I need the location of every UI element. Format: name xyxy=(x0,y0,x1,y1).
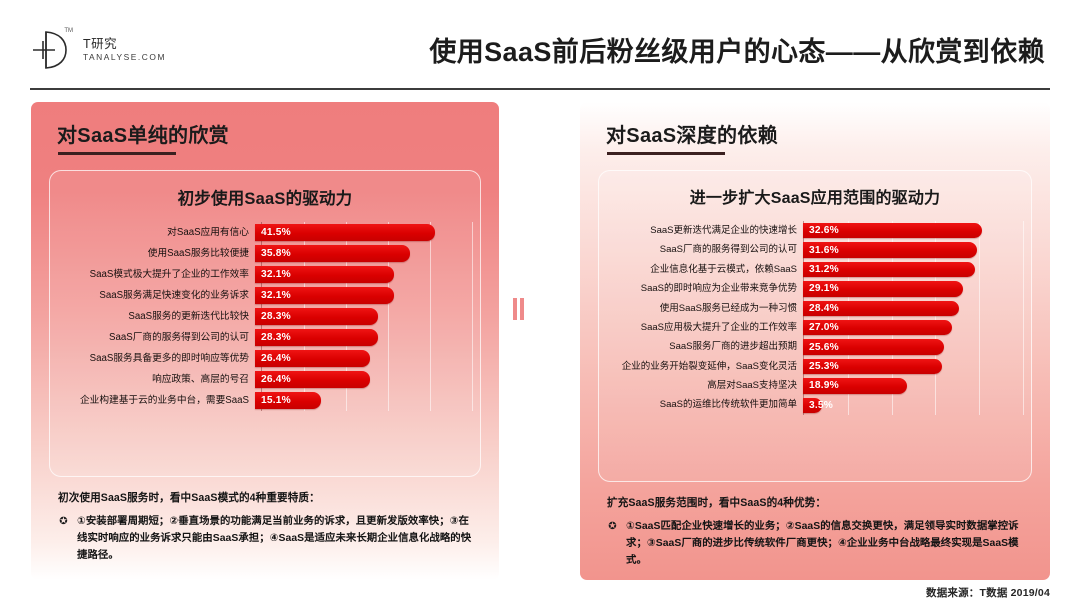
chart-bar-row: 企业构建基于云的业务中台，需要SaaS15.1% xyxy=(50,390,472,411)
panel-dependency: 对SaaS深度的依赖 进一步扩大SaaS应用范围的驱动力 SaaS更新迭代满足企… xyxy=(580,102,1050,580)
bar-value-label: 32.1% xyxy=(255,290,291,301)
note-left: 初次使用SaaS服务时，看中SaaS模式的4种重要特质： ✪ ①安装部署周期短；… xyxy=(58,490,478,565)
bar-track: 41.5% xyxy=(255,222,472,243)
bar: 41.5% xyxy=(255,224,435,241)
bar-value-label: 28.3% xyxy=(255,311,291,322)
bar: 31.6% xyxy=(803,242,977,257)
bar: 35.8% xyxy=(255,245,410,262)
bar-track: 28.3% xyxy=(255,327,472,348)
chart-bar-row: SaaS服务满足快速变化的业务诉求32.1% xyxy=(50,285,472,306)
bar-value-label: 28.4% xyxy=(803,303,839,314)
bar-value-label: 32.1% xyxy=(255,269,291,280)
chart-left-plot: 对SaaS应用有信心41.5%使用SaaS服务比较便捷35.8%SaaS模式极大… xyxy=(50,222,480,411)
header-divider xyxy=(30,88,1050,90)
bar-value-label: 41.5% xyxy=(255,227,291,238)
bar-category-label: 对SaaS应用有信心 xyxy=(50,228,255,238)
bar-track: 29.1% xyxy=(803,279,1023,298)
bar-category-label: SaaS厂商的服务得到公司的认可 xyxy=(50,333,255,343)
bar-value-label: 3.5% xyxy=(803,400,833,411)
page-title: 使用SaaS前后粉丝级用户的心态——从欣赏到依赖 xyxy=(0,30,1045,69)
bar-category-label: SaaS应用极大提升了企业的工作效率 xyxy=(605,323,803,333)
bar-track: 35.8% xyxy=(255,243,472,264)
bar-track: 26.4% xyxy=(255,348,472,369)
bar: 32.6% xyxy=(803,223,982,238)
panel-appreciation: 对SaaS单纯的欣赏 初步使用SaaS的驱动力 对SaaS应用有信心41.5%使… xyxy=(31,102,499,580)
chart-bar-row: 企业信息化基于云模式，依赖SaaS31.2% xyxy=(605,260,1023,279)
note-left-text: ①安装部署周期短；②垂直场景的功能满足当前业务的诉求，且更新发版效率快；③在线实… xyxy=(77,514,478,565)
bar-track: 25.3% xyxy=(803,357,1023,376)
bullet-icon: ✪ xyxy=(607,519,618,570)
panel-right-title: 对SaaS深度的依赖 xyxy=(606,119,778,148)
panel-right-underline xyxy=(607,152,725,155)
chart-bar-row: SaaS应用极大提升了企业的工作效率27.0% xyxy=(605,318,1023,337)
bar-category-label: SaaS服务满足快速变化的业务诉求 xyxy=(50,291,255,301)
bar: 28.4% xyxy=(803,301,959,316)
chart-bar-row: SaaS厂商的服务得到公司的认可31.6% xyxy=(605,240,1023,259)
arrow-bar-2 xyxy=(520,298,524,320)
chart-bar-row: SaaS服务厂商的进步超出预期25.6% xyxy=(605,337,1023,356)
bar: 28.3% xyxy=(255,329,378,346)
bar-category-label: 企业的业务开始裂变延伸，SaaS变化灵活 xyxy=(605,362,803,372)
bar-track: 26.4% xyxy=(255,369,472,390)
bar: 25.3% xyxy=(803,359,942,374)
bar-value-label: 18.9% xyxy=(803,380,839,391)
chart-bar-row: SaaS厂商的服务得到公司的认可28.3% xyxy=(50,327,472,348)
bullet-icon: ✪ xyxy=(58,514,69,565)
note-right: 扩充SaaS服务范围时，看中SaaS的4种优势： ✪ ①SaaS匹配企业快速增长… xyxy=(607,495,1031,570)
bar-track: 31.2% xyxy=(803,260,1023,279)
data-source-note: 数据来源：T数据 2019/04 xyxy=(926,585,1050,600)
bar-value-label: 26.4% xyxy=(255,353,291,364)
chart-bar-row: 响应政策、高层的号召26.4% xyxy=(50,369,472,390)
bar: 15.1% xyxy=(255,392,321,409)
chart-bar-row: SaaS更新迭代满足企业的快速增长32.6% xyxy=(605,221,1023,240)
bar-value-label: 29.1% xyxy=(803,283,839,294)
bar-track: 25.6% xyxy=(803,337,1023,356)
chart-card-right: 进一步扩大SaaS应用范围的驱动力 SaaS更新迭代满足企业的快速增长32.6%… xyxy=(598,170,1032,482)
bar-category-label: 使用SaaS服务比较便捷 xyxy=(50,249,255,259)
bar-category-label: SaaS模式极大提升了企业的工作效率 xyxy=(50,270,255,280)
bar: 28.3% xyxy=(255,308,378,325)
bar-category-label: 企业信息化基于云模式，依赖SaaS xyxy=(605,265,803,275)
chart-right-title: 进一步扩大SaaS应用范围的驱动力 xyxy=(599,184,1031,208)
panel-left-underline xyxy=(58,152,176,155)
bar-value-label: 25.3% xyxy=(803,361,839,372)
bar-value-label: 31.2% xyxy=(803,264,839,275)
chart-bar-row: 高层对SaaS支持坚决18.9% xyxy=(605,376,1023,395)
bar: 32.1% xyxy=(255,266,394,283)
chart-bar-row: SaaS服务的更新迭代比较快28.3% xyxy=(50,306,472,327)
chart-bar-row: 使用SaaS服务已经成为一种习惯28.4% xyxy=(605,299,1023,318)
bar-value-label: 28.3% xyxy=(255,332,291,343)
bar: 27.0% xyxy=(803,320,952,335)
bar-value-label: 32.6% xyxy=(803,225,839,236)
bar-track: 15.1% xyxy=(255,390,472,411)
bar-category-label: SaaS服务厂商的进步超出预期 xyxy=(605,342,803,352)
page-header: TM T研究 TANALYSE.COM 使用SaaS前后粉丝级用户的心态——从欣… xyxy=(0,0,1080,88)
bar-category-label: SaaS的运维比传统软件更加简单 xyxy=(605,400,803,410)
bar-category-label: SaaS服务具备更多的即时响应等优势 xyxy=(50,354,255,364)
slide-root: TM T研究 TANALYSE.COM 使用SaaS前后粉丝级用户的心态——从欣… xyxy=(0,0,1080,608)
note-right-heading: 扩充SaaS服务范围时，看中SaaS的4种优势： xyxy=(607,495,1031,510)
gridline xyxy=(472,222,473,411)
bar-category-label: SaaS厂商的服务得到公司的认可 xyxy=(605,245,803,255)
bar: 26.4% xyxy=(255,371,370,388)
bar-track: 32.1% xyxy=(255,285,472,306)
chart-bar-row: 对SaaS应用有信心41.5% xyxy=(50,222,472,243)
bar: 26.4% xyxy=(255,350,370,367)
chart-left-title: 初步使用SaaS的驱动力 xyxy=(50,185,480,209)
bar: 18.9% xyxy=(803,378,907,393)
note-right-body: ✪ ①SaaS匹配企业快速增长的业务；②SaaS的信息交换更快，满足领导实时数据… xyxy=(607,519,1031,570)
bar-track: 18.9% xyxy=(803,376,1023,395)
bar-value-label: 35.8% xyxy=(255,248,291,259)
bar-category-label: SaaS服务的更新迭代比较快 xyxy=(50,312,255,322)
chart-card-left: 初步使用SaaS的驱动力 对SaaS应用有信心41.5%使用SaaS服务比较便捷… xyxy=(49,170,481,477)
bar-track: 31.6% xyxy=(803,240,1023,259)
arrow-bar-1 xyxy=(513,298,517,320)
bar-category-label: 高层对SaaS支持坚决 xyxy=(605,381,803,391)
chart-bar-row: SaaS模式极大提升了企业的工作效率32.1% xyxy=(50,264,472,285)
bar-track: 28.4% xyxy=(803,299,1023,318)
bar-category-label: SaaS更新迭代满足企业的快速增长 xyxy=(605,226,803,236)
bar-value-label: 15.1% xyxy=(255,395,291,406)
bar-track: 32.1% xyxy=(255,264,472,285)
note-left-body: ✪ ①安装部署周期短；②垂直场景的功能满足当前业务的诉求，且更新发版效率快；③在… xyxy=(58,514,478,565)
bar-value-label: 27.0% xyxy=(803,322,839,333)
bar-track: 27.0% xyxy=(803,318,1023,337)
gridline xyxy=(1023,221,1024,415)
panel-left-title: 对SaaS单纯的欣赏 xyxy=(57,119,229,148)
bar-track: 32.6% xyxy=(803,221,1023,240)
transition-arrow-icon xyxy=(513,288,569,330)
bar: 29.1% xyxy=(803,281,963,296)
bar-category-label: 响应政策、高层的号召 xyxy=(50,375,255,385)
bar-value-label: 26.4% xyxy=(255,374,291,385)
bar-value-label: 31.6% xyxy=(803,245,839,256)
bar: 3.5% xyxy=(803,398,822,413)
note-right-text: ①SaaS匹配企业快速增长的业务；②SaaS的信息交换更快，满足领导实时数据掌控… xyxy=(626,519,1031,570)
bar: 25.6% xyxy=(803,339,944,354)
chart-bar-row: SaaS的运维比传统软件更加简单3.5% xyxy=(605,396,1023,415)
note-left-heading: 初次使用SaaS服务时，看中SaaS模式的4种重要特质： xyxy=(58,490,478,505)
chart-bar-row: 使用SaaS服务比较便捷35.8% xyxy=(50,243,472,264)
bar-track: 28.3% xyxy=(255,306,472,327)
bar-track: 3.5% xyxy=(803,396,1023,415)
chart-bar-row: 企业的业务开始裂变延伸，SaaS变化灵活25.3% xyxy=(605,357,1023,376)
bar-value-label: 25.6% xyxy=(803,342,839,353)
bar: 31.2% xyxy=(803,262,975,277)
chart-bar-row: SaaS服务具备更多的即时响应等优势26.4% xyxy=(50,348,472,369)
bar-category-label: SaaS的即时响应为企业带来竞争优势 xyxy=(605,284,803,294)
chart-bar-row: SaaS的即时响应为企业带来竞争优势29.1% xyxy=(605,279,1023,298)
bar-category-label: 使用SaaS服务已经成为一种习惯 xyxy=(605,304,803,314)
bar: 32.1% xyxy=(255,287,394,304)
bar-category-label: 企业构建基于云的业务中台，需要SaaS xyxy=(50,396,255,406)
chart-right-plot: SaaS更新迭代满足企业的快速增长32.6%SaaS厂商的服务得到公司的认可31… xyxy=(599,221,1031,415)
